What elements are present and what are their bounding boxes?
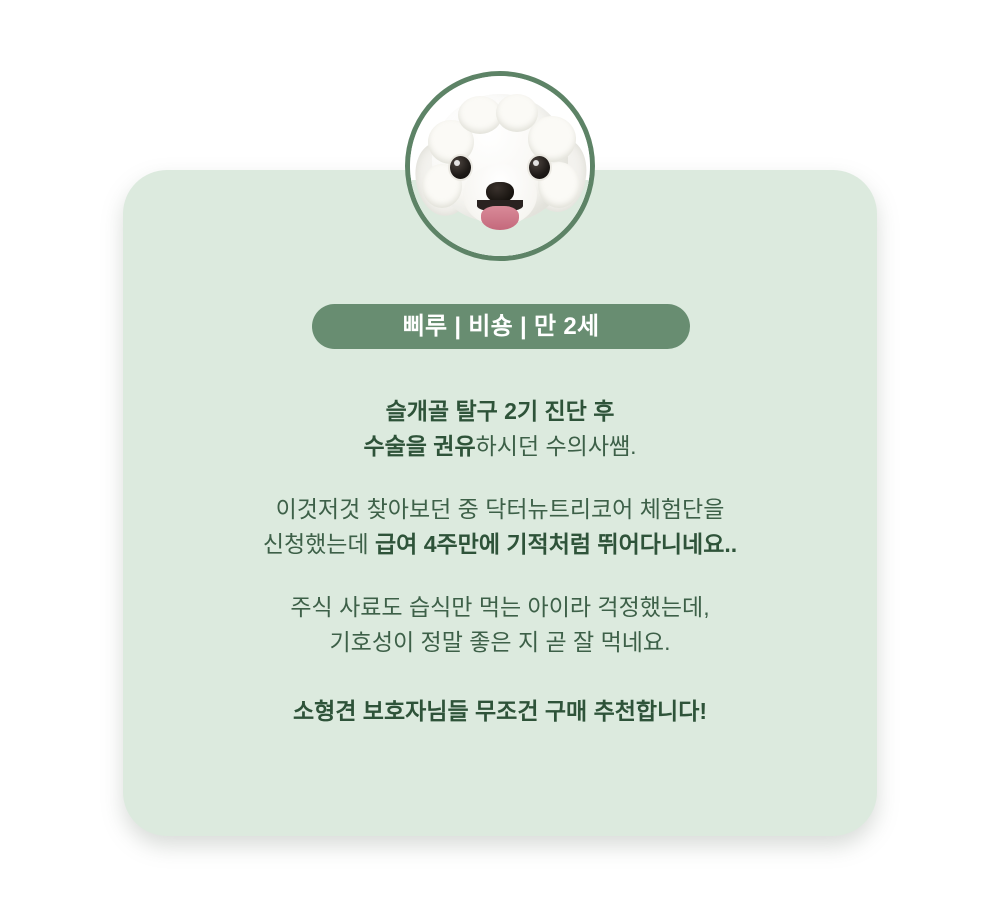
review-paragraph-1: 슬개골 탈구 2기 진단 후수술을 권유하시던 수의사쌤. <box>123 394 877 464</box>
review-text: 하시던 수의사쌤. <box>476 433 637 459</box>
review-paragraph-4: 소형견 보호자님들 무조건 구매 추천합니다! <box>123 694 877 729</box>
review-text: 신청했는데 <box>263 531 375 557</box>
review-line: 신청했는데 급여 4주만에 기적처럼 뛰어다니네요.. <box>123 527 877 562</box>
dog-eye-right <box>529 156 550 179</box>
pet-profile-badge: 삐루 | 비숑 | 만 2세 <box>312 304 690 349</box>
review-line: 기호성이 정말 좋은 지 곧 잘 먹네요. <box>123 625 877 660</box>
review-card-stage: 삐루 | 비숑 | 만 2세 슬개골 탈구 2기 진단 후수술을 권유하시던 수… <box>0 0 1000 914</box>
pet-profile-badge-label: 삐루 | 비숑 | 만 2세 <box>403 315 600 339</box>
dog-fluff-2 <box>528 116 576 162</box>
review-line: 주식 사료도 습식만 먹는 아이라 걱정했는데, <box>123 590 877 625</box>
review-text: 이것저것 찾아보던 중 닥터뉴트리코어 체험단을 <box>276 496 725 522</box>
review-text-emphasis: 급여 4주만에 기적처럼 뛰어다니네요.. <box>375 531 737 557</box>
bichon-dog-illustration <box>414 90 586 250</box>
review-body: 슬개골 탈구 2기 진단 후수술을 권유하시던 수의사쌤. 이것저것 찾아보던 … <box>123 394 877 729</box>
review-line: 슬개골 탈구 2기 진단 후 <box>123 394 877 429</box>
dog-eye-left <box>450 156 471 179</box>
dog-tongue <box>481 206 519 230</box>
review-text-emphasis: 소형견 보호자님들 무조건 구매 추천합니다! <box>293 698 707 724</box>
review-line: 이것저것 찾아보던 중 닥터뉴트리코어 체험단을 <box>123 492 877 527</box>
review-line: 수술을 권유하시던 수의사쌤. <box>123 429 877 464</box>
dog-fluff-4 <box>496 94 538 132</box>
review-text-emphasis: 수술을 권유 <box>363 433 475 459</box>
review-paragraph-3: 주식 사료도 습식만 먹는 아이라 걱정했는데,기호성이 정말 좋은 지 곧 잘… <box>123 590 877 660</box>
review-text-emphasis: 슬개골 탈구 2기 진단 후 <box>386 398 615 424</box>
review-line: 소형견 보호자님들 무조건 구매 추천합니다! <box>123 694 877 729</box>
review-paragraph-2: 이것저것 찾아보던 중 닥터뉴트리코어 체험단을신청했는데 급여 4주만에 기적… <box>123 492 877 562</box>
review-text: 주식 사료도 습식만 먹는 아이라 걱정했는데, <box>290 594 709 620</box>
avatar <box>405 71 595 261</box>
review-text: 기호성이 정말 좋은 지 곧 잘 먹네요. <box>330 629 671 655</box>
dog-photo-icon <box>410 76 590 256</box>
